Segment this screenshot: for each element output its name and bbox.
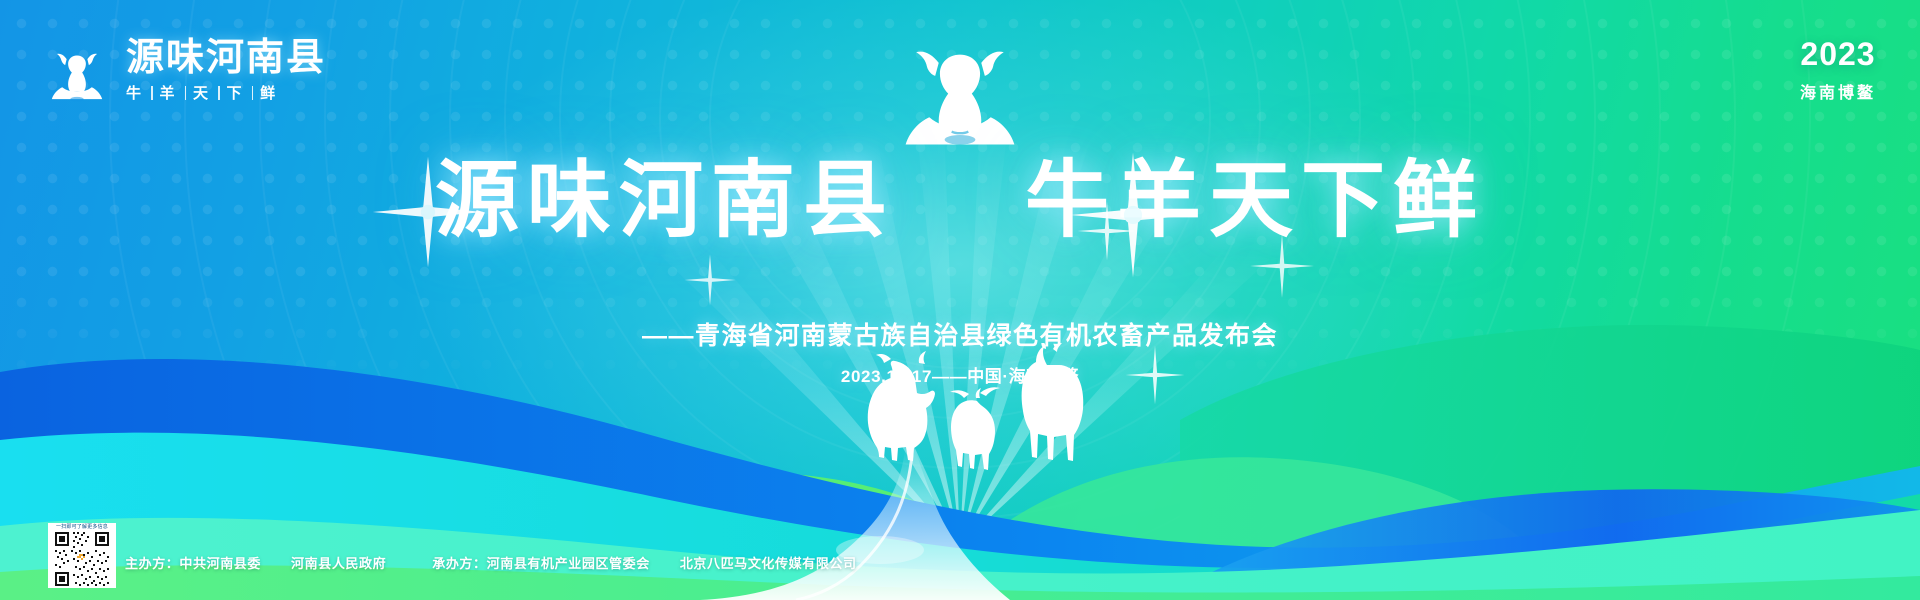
center-yak-head-emblem-icon: YUAN WEI HE NAN XIAN <box>870 18 1050 148</box>
event-place: 海南博鳌 <box>1800 79 1876 103</box>
yak-silhouette <box>868 351 935 461</box>
logo-sub-char-0: 牛 <box>126 82 144 103</box>
logo-sub-divider <box>218 86 220 100</box>
headline-right: 牛羊天下鲜 <box>1025 160 1485 244</box>
livestock-silhouettes <box>845 343 1145 488</box>
headline-left: 源味河南县 <box>435 160 895 244</box>
organizer-1: 北京八匹马文化传媒有限公司 <box>680 553 857 572</box>
event-year: 2023 <box>1800 38 1876 70</box>
organizers-group: 承办方：河南县有机产业园区管委会 北京八匹马文化传媒有限公司 <box>432 553 856 572</box>
hosts-group: 主办方：中共河南县委 河南县人民政府 <box>125 553 386 572</box>
logo-sub-divider <box>185 86 187 100</box>
host-1: 河南县人民政府 <box>291 553 386 572</box>
host-label: 主办方： <box>125 556 179 571</box>
qr-caption: 一扫即可了解更多信息 <box>48 523 116 531</box>
organizer-label: 承办方： <box>432 556 486 571</box>
center-emblem-arc-text: YUAN WEI HE NAN XIAN <box>877 18 1050 21</box>
organizer-label-and-first: 承办方：河南县有机产业园区管委会 <box>432 553 650 572</box>
yak-head-emblem-icon: YUAN WEI HE NAN XIAN <box>40 34 114 108</box>
qr-code-block[interactable]: 一扫即可了解更多信息 <box>48 523 116 589</box>
logo-sub-char-3: 下 <box>227 82 245 103</box>
logo-sub-divider <box>151 86 153 100</box>
logo-sub-divider <box>252 86 254 100</box>
logo-sub-char-2: 天 <box>193 82 211 103</box>
logo-title: 源味河南县 <box>126 39 326 77</box>
logo-subtitle: 牛 羊 天 下 鲜 <box>126 82 326 103</box>
horse-silhouette <box>1022 343 1084 461</box>
logo-arc-text: YUAN WEI HE NAN XIAN <box>40 34 114 36</box>
logo-sub-char-1: 羊 <box>160 82 178 103</box>
qr-code-icon[interactable] <box>48 530 116 588</box>
headline-row: 源味河南县 牛羊天下鲜 <box>0 160 1920 244</box>
host-0: 中共河南县委 <box>179 556 261 571</box>
organizer-0: 河南县有机产业园区管委会 <box>487 556 650 571</box>
sheep-silhouette <box>950 387 1000 470</box>
event-banner: YUAN WEI HE NAN XIAN 源味河南县 牛 羊 天 下 <box>0 0 1920 600</box>
logo-sub-char-4: 鲜 <box>260 82 278 103</box>
credits-row: 主办方：中共河南县委 河南县人民政府 承办方：河南县有机产业园区管委会 北京八匹… <box>125 553 857 572</box>
brand-logo-lockup[interactable]: YUAN WEI HE NAN XIAN 源味河南县 牛 羊 天 下 <box>40 34 326 108</box>
host-label-and-first: 主办方：中共河南县委 <box>125 553 261 572</box>
event-year-place: 2023 海南博鳌 <box>1800 38 1876 103</box>
